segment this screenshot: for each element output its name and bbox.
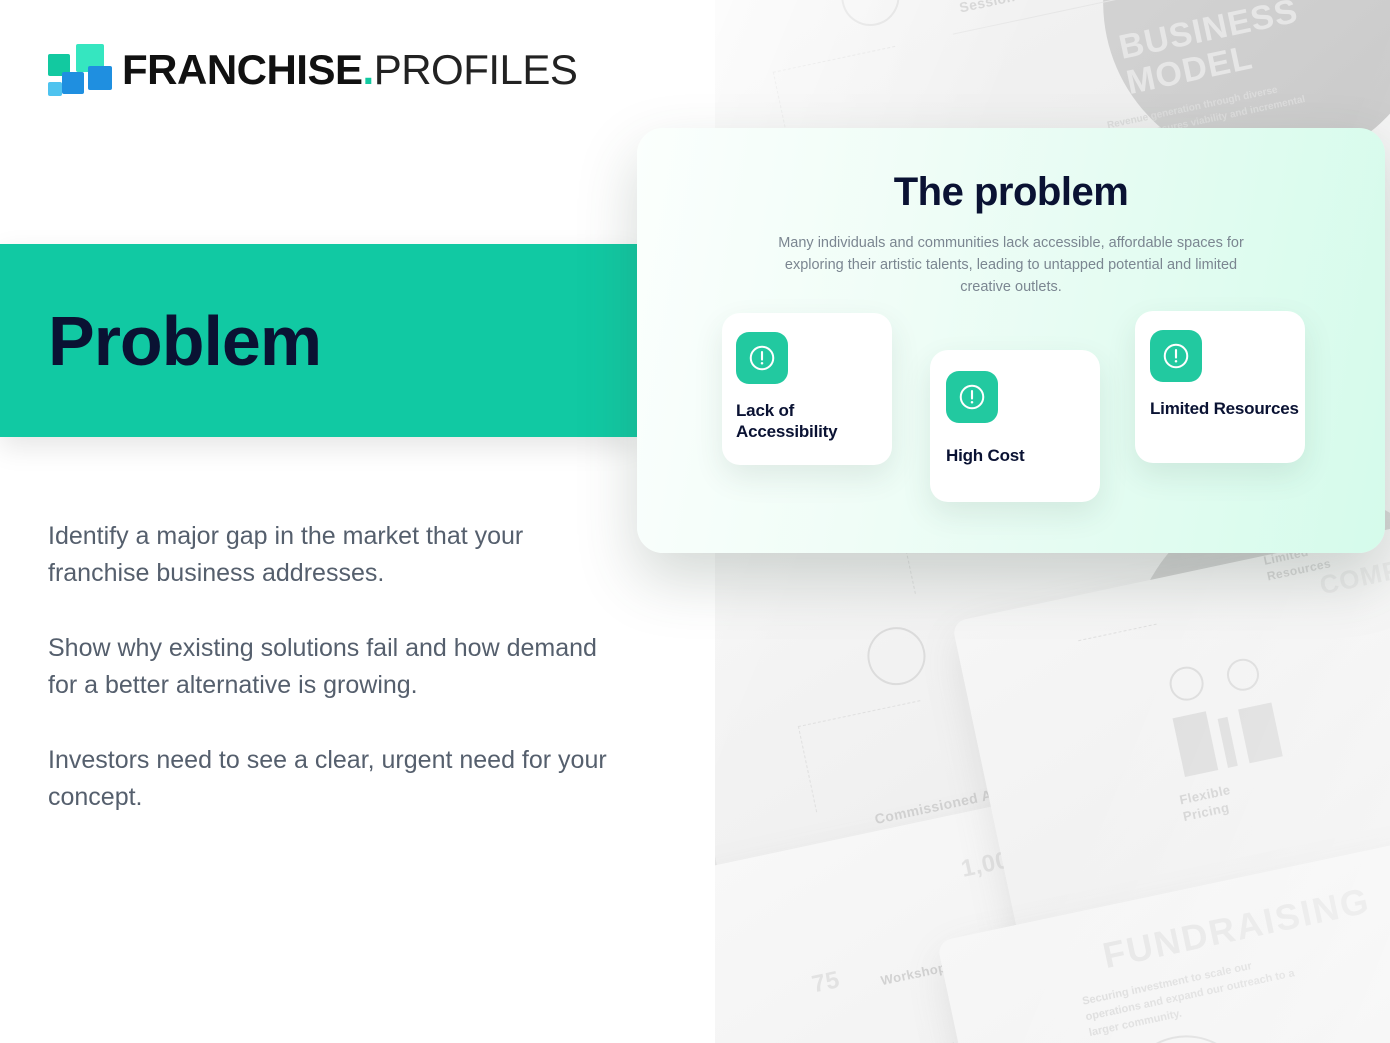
slide-preview-card[interactable]: The problem Many individuals and communi… <box>637 128 1385 553</box>
description-paragraph-2: Show why existing solutions fail and how… <box>48 630 618 704</box>
logo-squares-icon <box>48 44 104 96</box>
description-block: Identify a major gap in the market that … <box>48 518 618 816</box>
problem-card-label: Lack of Accessibility <box>736 401 892 442</box>
logo-word-bold: FRANCHISE <box>122 46 363 93</box>
brand-logo[interactable]: FRANCHISE.PROFILES <box>48 44 577 96</box>
description-paragraph-3: Investors need to see a clear, urgent ne… <box>48 742 618 816</box>
logo-wordmark: FRANCHISE.PROFILES <box>122 49 577 91</box>
alert-circle-icon <box>1150 330 1202 382</box>
preview-subtitle: Many individuals and communities lack ac… <box>765 233 1257 298</box>
page-title: Problem <box>48 306 321 376</box>
logo-dot: . <box>363 46 374 93</box>
section-banner: Problem <box>0 244 637 437</box>
problem-card-high-cost[interactable]: High Cost <box>930 350 1100 502</box>
alert-circle-icon <box>736 332 788 384</box>
problem-card-label: Limited Resources <box>1150 399 1299 420</box>
preview-title: The problem <box>637 170 1385 215</box>
alert-circle-icon <box>946 371 998 423</box>
problem-card-lack-of-accessibility[interactable]: Lack of Accessibility <box>722 313 892 465</box>
problem-card-limited-resources[interactable]: Limited Resources <box>1135 311 1305 463</box>
logo-word-light: PROFILES <box>374 46 578 93</box>
slide-preview-screen: BUSINESS MODEL Revenue generation throug… <box>0 0 1390 1043</box>
problem-card-label: High Cost <box>946 446 1024 467</box>
description-paragraph-1: Identify a major gap in the market that … <box>48 518 618 592</box>
